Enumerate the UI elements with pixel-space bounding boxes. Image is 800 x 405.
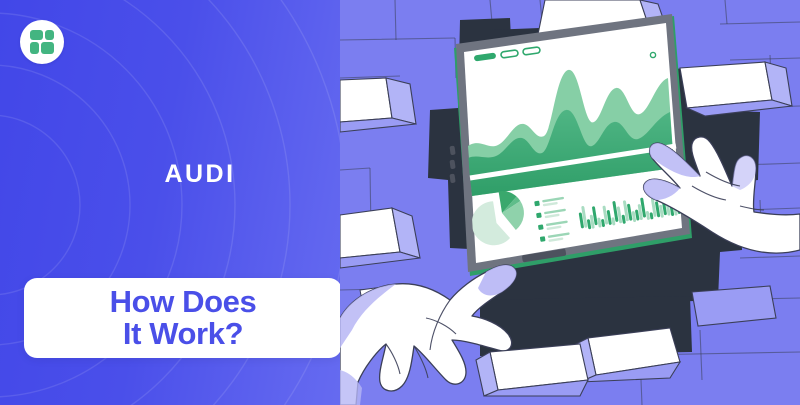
headline-text: How Does It Work? <box>110 286 257 349</box>
logo-tile-bottom-right <box>41 42 54 54</box>
logo-tile-bottom-left <box>30 42 39 54</box>
headline-line-2: It Work? <box>110 318 257 350</box>
brick-left-mid <box>340 208 420 268</box>
headline-line-1: How Does <box>110 284 257 319</box>
brand-logo[interactable] <box>20 20 64 64</box>
brick-right-upper <box>680 62 792 116</box>
promo-banner: AUDI How Does It Work? <box>0 0 800 405</box>
logo-tile-top-left <box>30 30 43 40</box>
headline-card: How Does It Work? <box>24 278 342 358</box>
brick-foreground-bottom <box>476 344 588 396</box>
grid-squares-icon <box>30 30 54 54</box>
tablet-side-buttons <box>449 146 455 184</box>
brick-left-upper <box>340 78 416 132</box>
logo-tile-top-right <box>45 30 54 40</box>
illustration-svg <box>340 0 800 405</box>
hero-illustration <box>340 0 800 405</box>
